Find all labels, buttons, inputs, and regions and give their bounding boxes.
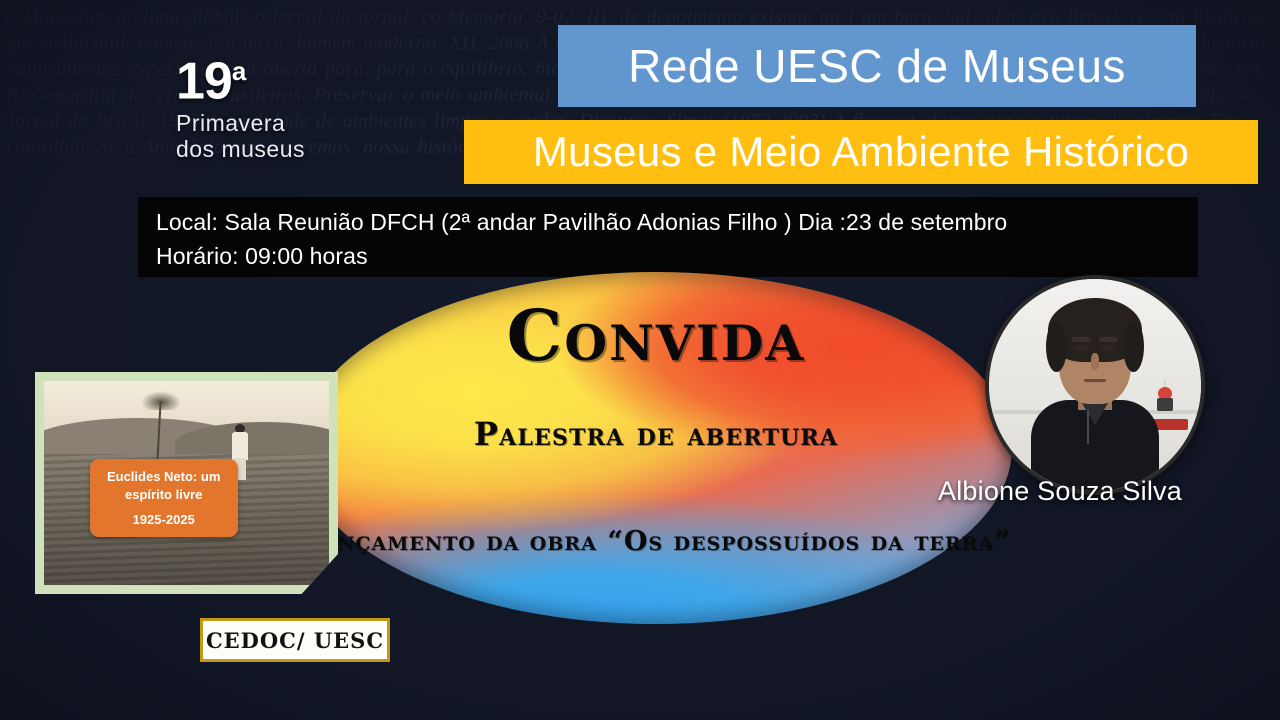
primavera-dos-museus-logo: 19a Primavera dos museus bbox=[176, 48, 305, 162]
speaker-photo-nose bbox=[1091, 353, 1099, 370]
convida-title: Convida bbox=[300, 294, 1012, 377]
speaker-name: Albione Souza Silva bbox=[938, 476, 1182, 507]
poster-canvas: e Magazine, o clima global: o jornal do … bbox=[0, 0, 1280, 720]
photo-image: Euclides Neto: um espírito livre 1925-20… bbox=[44, 381, 329, 585]
speaker-photo-hair-right bbox=[1123, 321, 1144, 372]
speaker-photo-mouth bbox=[1084, 379, 1105, 383]
banner-museus-meio-ambiente: Museus e Meio Ambiente Histórico bbox=[464, 120, 1258, 184]
lancamento-announcement: Lançamento da obra “Os despossuídos da t… bbox=[296, 522, 1016, 562]
banner-rede-uesc-museus: Rede UESC de Museus bbox=[558, 25, 1196, 107]
primavera-number: 19a bbox=[176, 48, 305, 104]
speaker-photo-vase bbox=[1154, 381, 1176, 411]
speaker-photo-necklace bbox=[1087, 410, 1089, 444]
photo-caption-line2: espírito livre bbox=[96, 486, 232, 504]
palestra-subtitle: Palestra de abertura bbox=[300, 415, 1012, 453]
primavera-line1: Primavera bbox=[176, 110, 305, 136]
primavera-ordinal: a bbox=[232, 56, 245, 86]
ellipse-text-group: Convida Palestra de abertura Lançamento … bbox=[300, 272, 1012, 624]
photo-caption-line1: Euclides Neto: um bbox=[96, 468, 232, 486]
central-ellipse-graphic: Convida Palestra de abertura Lançamento … bbox=[300, 272, 1012, 624]
cedoc-uesc-box: CEDOC/ UESC bbox=[200, 618, 390, 662]
photo-caption-years: 1925-2025 bbox=[96, 512, 232, 527]
event-time-line: Horário: 09:00 horas bbox=[156, 239, 1198, 273]
speaker-photo-eye-left bbox=[1074, 345, 1089, 352]
banner-blue-text: Rede UESC de Museus bbox=[628, 39, 1126, 93]
cedoc-uesc-label: CEDOC/ UESC bbox=[206, 628, 384, 653]
photo-caption-label: Euclides Neto: um espírito livre 1925-20… bbox=[90, 459, 238, 537]
speaker-photo-eyebrow-left bbox=[1072, 337, 1091, 341]
speaker-avatar bbox=[985, 275, 1205, 495]
primavera-line2: dos museus bbox=[176, 136, 305, 162]
footer-logo-bar: SbM SOCIEDADE BRASILEIRA DE MUSEOLOGIA i… bbox=[0, 664, 1280, 720]
event-info-bar: Local: Sala Reunião DFCH (2ª andar Pavil… bbox=[138, 197, 1198, 277]
event-location-line: Local: Sala Reunião DFCH (2ª andar Pavil… bbox=[156, 205, 1198, 239]
speaker-photo-eyebrow-right bbox=[1099, 337, 1118, 341]
speaker-photo-eye-right bbox=[1101, 345, 1116, 352]
euclides-neto-photo-card: Euclides Neto: um espírito livre 1925-20… bbox=[35, 372, 338, 594]
banner-yellow-text: Museus e Meio Ambiente Histórico bbox=[533, 128, 1189, 176]
